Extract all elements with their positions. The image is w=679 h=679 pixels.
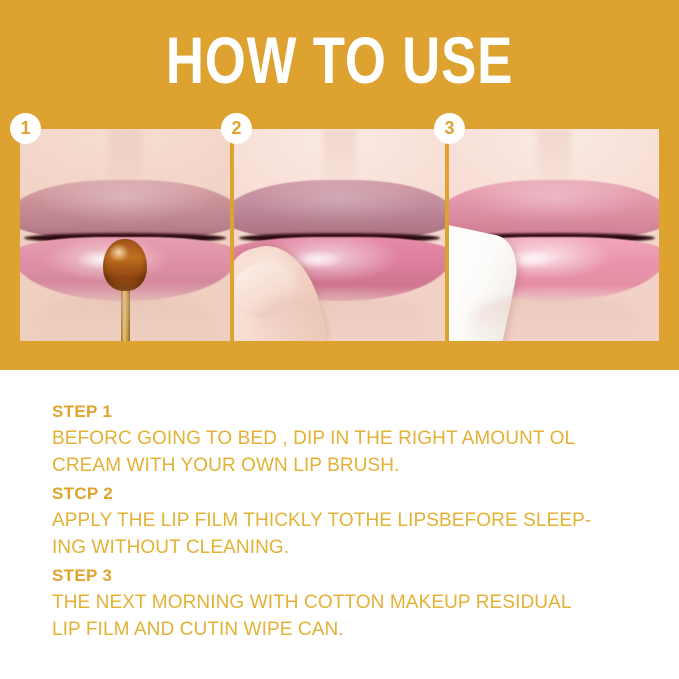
step-image-3 — [449, 129, 659, 341]
chin-shadow — [255, 294, 423, 341]
panel-applicator — [20, 129, 230, 341]
instruction-step-1: STEP 1 BEFORC GOING TO BED , DIP IN THE … — [52, 398, 652, 479]
step-badge-1: 1 — [10, 113, 41, 144]
step-1-heading: STEP 1 — [52, 398, 652, 425]
step-2-heading: STCP 2 — [52, 480, 652, 507]
instructions-list: STEP 1 BEFORC GOING TO BED , DIP IN THE … — [52, 398, 652, 644]
step-image-1 — [20, 129, 230, 341]
panel-cotton-pad — [449, 129, 659, 341]
panel-fingertip — [234, 129, 444, 341]
instruction-step-3: STEP 3 THE NEXT MORNING WITH COTTON MAKE… — [52, 562, 652, 643]
step-1-body: BEFORC GOING TO BED , DIP IN THE RIGHT A… — [52, 425, 652, 479]
upper-lip — [449, 180, 659, 239]
step-image-gallery — [20, 129, 659, 341]
step-3-body: THE NEXT MORNING WITH COTTON MAKEUP RESI… — [52, 589, 652, 643]
step-3-heading: STEP 3 — [52, 562, 652, 589]
upper-lip — [20, 180, 230, 239]
chin-shadow — [41, 294, 209, 341]
step-2-body: APPLY THE LIP FILM THICKLY TOTHE LIPSBEF… — [52, 507, 652, 561]
instruction-step-2: STCP 2 APPLY THE LIP FILM THICKLY TOTHE … — [52, 480, 652, 561]
page-title: HOW TO USE — [68, 26, 611, 94]
step-badge-2: 2 — [221, 113, 252, 144]
applicator-product-bead — [103, 239, 147, 291]
chin-shadow — [470, 294, 638, 341]
upper-lip — [234, 180, 444, 239]
step-image-2 — [234, 129, 444, 341]
step-badge-3: 3 — [434, 113, 465, 144]
how-to-use-poster: HOW TO USE — [0, 0, 679, 679]
